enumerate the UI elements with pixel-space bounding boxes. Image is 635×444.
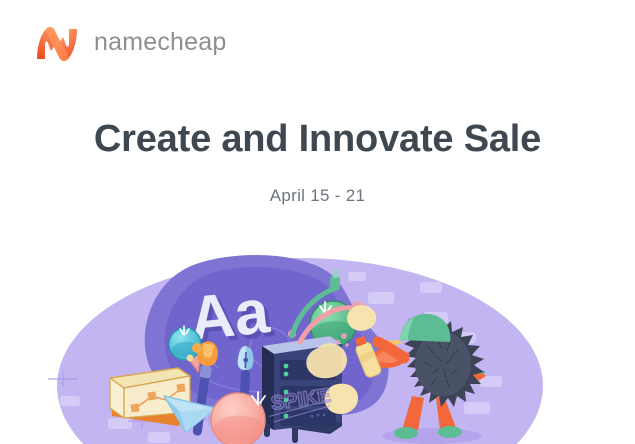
- namecheap-wordmark: namecheap: [94, 30, 226, 57]
- hero-illustration: Aa Aa: [0, 236, 635, 444]
- sphere-pink: [211, 392, 265, 444]
- shoe-left: [394, 427, 418, 439]
- paint-drop-small: [187, 355, 194, 362]
- namecheap-logo[interactable]: namecheap: [33, 20, 226, 66]
- promo-page: namecheap Create and Innovate Sale April…: [0, 0, 635, 444]
- namecheap-n-logo-icon: [33, 21, 83, 65]
- shoe-right: [438, 426, 462, 438]
- paint-drop-orange: [192, 343, 202, 353]
- sale-date-range: April 15 - 21: [0, 186, 635, 206]
- page-title: Create and Innovate Sale: [0, 118, 635, 162]
